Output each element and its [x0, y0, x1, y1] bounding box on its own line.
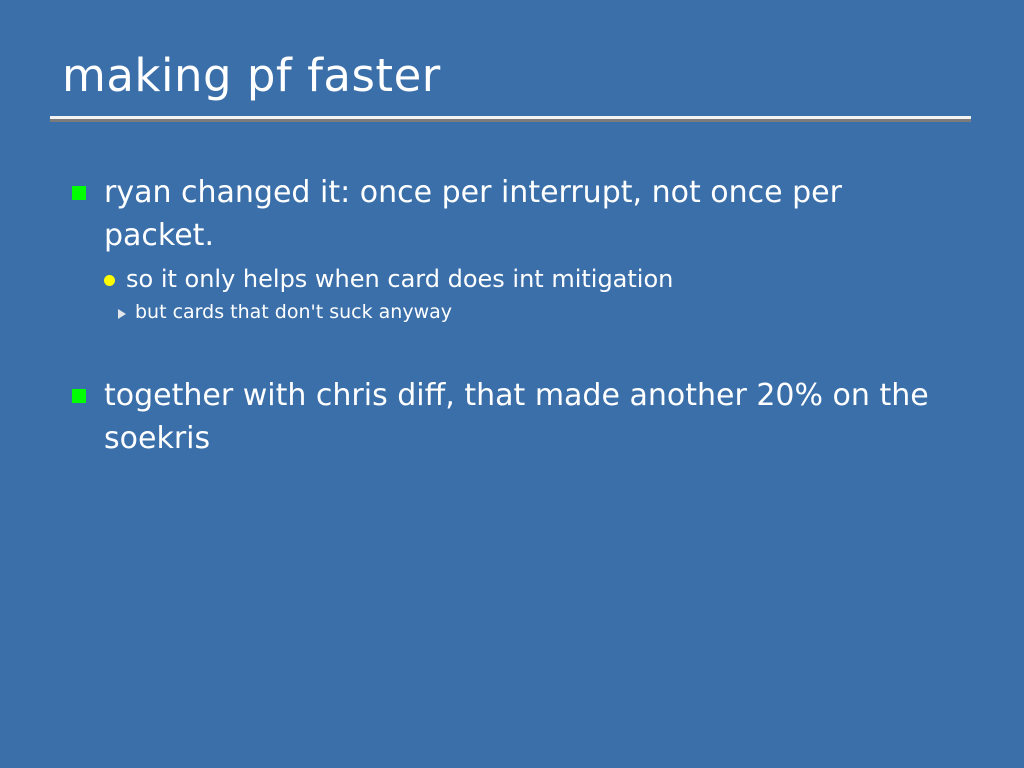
- title-block: making pf faster: [50, 52, 974, 99]
- page-title: making pf faster: [50, 52, 974, 99]
- list-item: ryan changed it: once per interrupt, not…: [72, 172, 962, 257]
- bullet-level1-text: together with chris diff, that made anot…: [104, 375, 934, 460]
- triangle-bullet-icon: [118, 309, 126, 319]
- bullet-level1-text: ryan changed it: once per interrupt, not…: [104, 172, 934, 257]
- slide-body: ryan changed it: once per interrupt, not…: [72, 172, 962, 460]
- list-item: but cards that don't suck anyway: [118, 300, 962, 326]
- bullet-level2-text: so it only helps when card does int miti…: [126, 263, 673, 295]
- group-spacer: [72, 325, 962, 375]
- list-item: together with chris diff, that made anot…: [72, 375, 962, 460]
- square-bullet-icon: [72, 389, 86, 403]
- title-divider: [50, 116, 971, 122]
- divider-shadow: [50, 119, 971, 122]
- square-bullet-icon: [72, 186, 86, 200]
- dot-bullet-icon: [104, 275, 115, 286]
- bullet-level3-text: but cards that don't suck anyway: [135, 300, 452, 326]
- list-item: so it only helps when card does int miti…: [104, 263, 962, 295]
- slide-canvas: making pf faster ryan changed it: once p…: [0, 0, 1024, 768]
